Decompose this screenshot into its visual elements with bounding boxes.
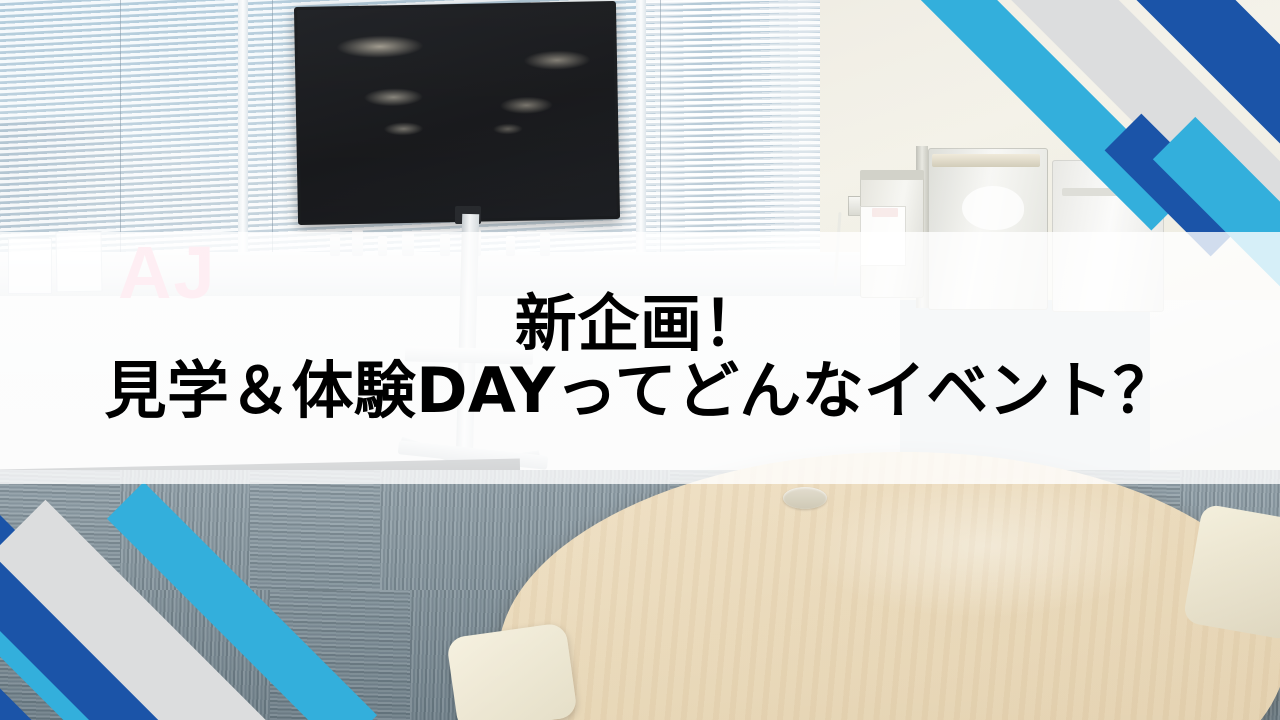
headline-block: 新企画！ 見学＆体験DAYってどんなイベント？ (0, 232, 1280, 484)
headline-line-2: 見学＆体験DAYってどんなイベント？ (105, 358, 1176, 425)
hero-banner: AJ (0, 0, 1280, 720)
headline-line-1: 新企画！ (515, 291, 765, 358)
